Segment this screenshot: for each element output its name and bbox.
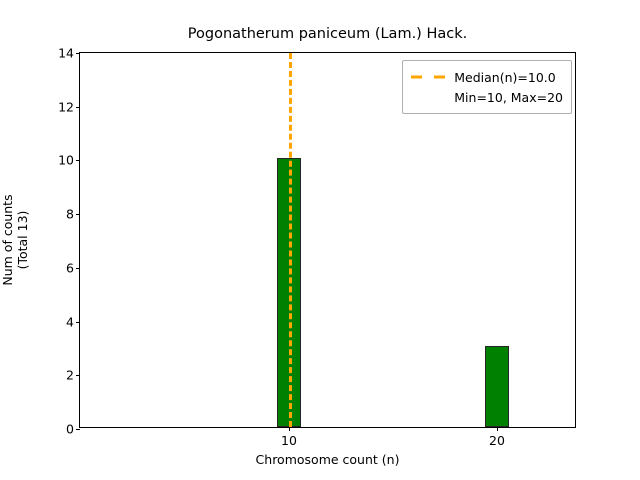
y-axis-label-line1: Num of counts <box>0 52 15 428</box>
dashed-line-icon <box>411 72 445 82</box>
x-tick-label: 20 <box>489 433 505 448</box>
y-axis-label: Num of counts (Total 13) <box>0 52 30 428</box>
x-axis-label: Chromosome count (n) <box>79 452 576 467</box>
legend-entry-minmax: Min=10, Max=20 <box>411 87 563 107</box>
legend: Median(n)=10.0 Min=10, Max=20 <box>402 60 572 114</box>
x-tick-mark <box>289 427 290 431</box>
y-tick-mark <box>76 160 80 161</box>
median-line <box>289 53 292 427</box>
y-tick-label: 12 <box>58 99 74 114</box>
y-axis-label-line2: (Total 13) <box>15 52 30 428</box>
y-tick-mark <box>76 53 80 54</box>
legend-label-minmax: Min=10, Max=20 <box>454 90 563 105</box>
x-tick-mark <box>497 427 498 431</box>
x-tick-label: 10 <box>281 433 297 448</box>
bar-n-20 <box>485 346 509 427</box>
legend-label-median: Median(n)=10.0 <box>454 70 555 85</box>
y-tick-label: 8 <box>66 207 74 222</box>
y-tick-mark <box>76 429 80 430</box>
y-tick-label: 2 <box>66 368 74 383</box>
y-tick-label: 0 <box>66 422 74 437</box>
y-tick-mark <box>76 107 80 108</box>
y-tick-label: 4 <box>66 314 74 329</box>
plot-area: 0 2 4 6 8 10 12 14 <box>79 52 576 428</box>
y-tick-label: 10 <box>58 153 74 168</box>
chart-figure: Pogonatherum paniceum (Lam.) Hack. 0 2 4… <box>0 0 640 480</box>
y-tick-label: 14 <box>58 46 74 61</box>
chart-title: Pogonatherum paniceum (Lam.) Hack. <box>79 26 576 42</box>
y-tick-mark <box>76 268 80 269</box>
y-tick-mark <box>76 214 80 215</box>
legend-entry-median: Median(n)=10.0 <box>411 67 563 87</box>
y-tick-mark <box>76 375 80 376</box>
y-tick-label: 6 <box>66 260 74 275</box>
y-tick-mark <box>76 322 80 323</box>
